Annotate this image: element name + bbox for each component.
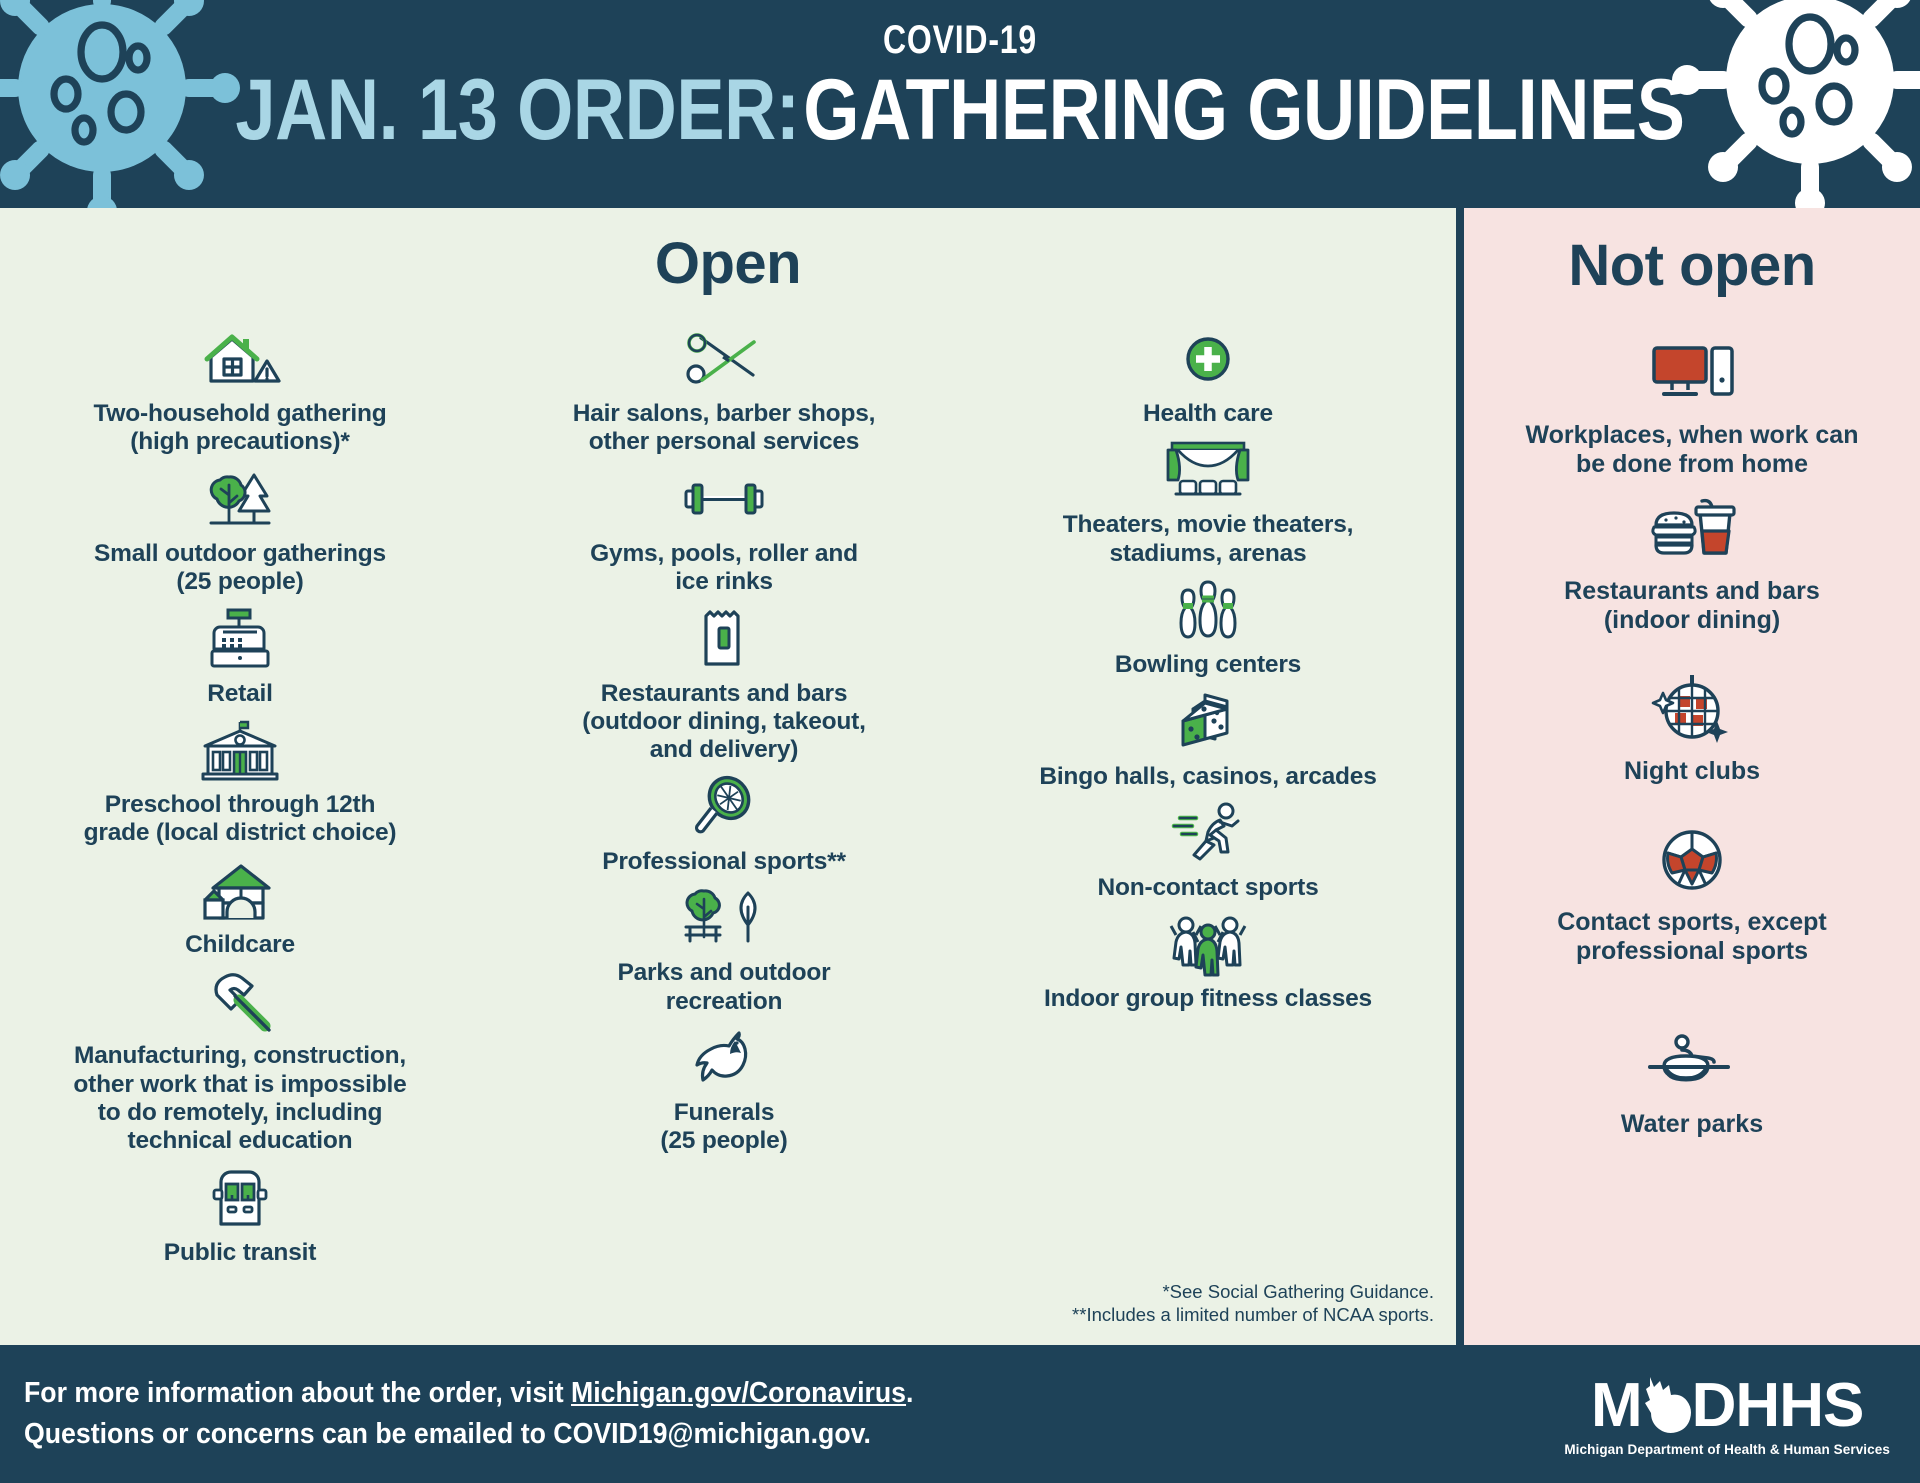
- list-item-label: Public transit: [14, 1239, 466, 1267]
- coronavirus-link[interactable]: Michigan.gov/Coronavirus: [571, 1377, 906, 1409]
- house-icon: [14, 323, 466, 395]
- dove-icon: [494, 1022, 954, 1094]
- takeout-receipt-icon: [494, 603, 954, 675]
- open-heading: Open: [0, 208, 1456, 297]
- dumbbell-icon: [494, 463, 954, 535]
- scissors-icon: [494, 323, 954, 395]
- bus-icon: [14, 1162, 466, 1234]
- list-item: Workplaces, when work can be done from h…: [1464, 333, 1920, 479]
- list-item-label: Manufacturing, construction, other work …: [14, 1042, 466, 1156]
- list-item: Gyms, pools, roller and ice rinks: [494, 463, 954, 597]
- list-item: Preschool through 12th grade (local dist…: [14, 714, 466, 848]
- list-item-label: Bowling centers: [982, 651, 1434, 679]
- list-item-label: Childcare: [14, 931, 466, 959]
- logo-letter-m: M: [1591, 1378, 1642, 1434]
- trees-icon: [14, 463, 466, 535]
- list-item: Restaurants and bars (outdoor dining, ta…: [494, 603, 954, 765]
- open-column-2: Hair salons, barber shops, other persona…: [480, 323, 968, 1273]
- school-building-icon: [14, 714, 466, 786]
- bowling-pins-icon: [982, 574, 1434, 646]
- list-item: Water parks: [1464, 1022, 1920, 1139]
- list-item-label: Workplaces, when work can be done from h…: [1464, 421, 1920, 479]
- park-bench-tree-icon: [494, 882, 954, 954]
- desktop-computer-icon: [1464, 333, 1920, 413]
- theater-stage-icon: [982, 434, 1434, 506]
- logo-wordmark: M DHHS: [1591, 1371, 1863, 1441]
- list-item-label: Funerals (25 people): [494, 1099, 954, 1156]
- covid-eyebrow: COVID-19: [192, 18, 1728, 63]
- list-item-label: Restaurants and bars (indoor dining): [1464, 577, 1920, 635]
- list-item-label: Small outdoor gatherings (25 people): [14, 540, 466, 597]
- soccer-ball-icon: [1464, 820, 1920, 900]
- page-title-highlight: JAN. 13 ORDER:: [235, 62, 799, 158]
- tennis-racket-icon: [494, 771, 954, 843]
- list-item: Parks and outdoor recreation: [494, 882, 954, 1016]
- list-item-label: Night clubs: [1464, 757, 1920, 786]
- open-column-1: Two-household gathering (high precaution…: [0, 323, 480, 1273]
- header-banner: COVID-19 JAN. 13 ORDER: GATHERING GUIDEL…: [0, 0, 1920, 208]
- list-item-label: Parks and outdoor recreation: [494, 959, 954, 1016]
- list-item-label: Restaurants and bars (outdoor dining, ta…: [494, 680, 954, 765]
- mdhhs-logo: M DHHS Michigan Department of Health & H…: [1564, 1371, 1890, 1458]
- list-item: Small outdoor gatherings (25 people): [14, 463, 466, 597]
- list-item: Contact sports, except professional spor…: [1464, 820, 1920, 966]
- list-item: Indoor group fitness classes: [982, 908, 1434, 1013]
- list-item: Restaurants and bars (indoor dining): [1464, 489, 1920, 635]
- burger-drink-icon: [1464, 489, 1920, 569]
- list-item-label: Hair salons, barber shops, other persona…: [494, 400, 954, 457]
- building-blocks-icon: [14, 854, 466, 926]
- list-item-label: Professional sports**: [494, 848, 954, 876]
- page-title-main: GATHERING GUIDELINES: [803, 62, 1684, 158]
- page-title: JAN. 13 ORDER: GATHERING GUIDELINES: [154, 67, 1767, 153]
- list-item-label: Water parks: [1464, 1110, 1920, 1139]
- runner-icon: [982, 797, 1434, 869]
- water-tube-icon: [1464, 1022, 1920, 1102]
- footer-line-2: Questions or concerns can be emailed to …: [24, 1414, 913, 1455]
- list-item: Bowling centers: [982, 574, 1434, 679]
- footer-bar: For more information about the order, vi…: [0, 1345, 1920, 1483]
- logo-subtitle: Michigan Department of Health & Human Se…: [1564, 1442, 1890, 1457]
- list-item-label: Contact sports, except professional spor…: [1464, 908, 1920, 966]
- not-open-panel: Not open Workplaces, when work can be do…: [1464, 208, 1920, 1345]
- list-item: Hair salons, barber shops, other persona…: [494, 323, 954, 457]
- medical-cross-icon: [982, 323, 1434, 395]
- panel-divider: [1456, 208, 1464, 1345]
- hammer-icon: [14, 965, 466, 1037]
- footer-line1-after: .: [906, 1377, 913, 1409]
- list-item: Retail: [14, 603, 466, 708]
- list-item-label: Retail: [14, 680, 466, 708]
- disco-ball-icon: [1464, 669, 1920, 749]
- open-column-3: Health care: [968, 323, 1448, 1273]
- list-item: Two-household gathering (high precaution…: [14, 323, 466, 457]
- open-panel: Open: [0, 208, 1456, 1345]
- list-item-label: Bingo halls, casinos, arcades: [982, 763, 1434, 791]
- list-item: Health care: [982, 323, 1434, 428]
- list-item: Funerals (25 people): [494, 1022, 954, 1156]
- infographic-page: COVID-19 JAN. 13 ORDER: GATHERING GUIDEL…: [0, 0, 1920, 1483]
- list-item: Bingo halls, casinos, arcades: [982, 686, 1434, 791]
- content-area: Open: [0, 208, 1920, 1345]
- logo-letters-dhhs: DHHS: [1692, 1378, 1864, 1434]
- list-item-label: Theaters, movie theaters, stadiums, aren…: [982, 511, 1434, 568]
- list-item-label: Gyms, pools, roller and ice rinks: [494, 540, 954, 597]
- list-item: Childcare: [14, 854, 466, 959]
- footer-line-1: For more information about the order, vi…: [24, 1373, 913, 1414]
- footnotes: *See Social Gathering Guidance. **Includ…: [1072, 1280, 1434, 1327]
- list-item: Theaters, movie theaters, stadiums, aren…: [982, 434, 1434, 568]
- list-item-label: Two-household gathering (high precaution…: [14, 400, 466, 457]
- cash-register-icon: [14, 603, 466, 675]
- not-open-heading: Not open: [1464, 208, 1920, 299]
- footer-contact-text: For more information about the order, vi…: [24, 1373, 913, 1455]
- group-fitness-icon: [982, 908, 1434, 980]
- list-item: Professional sports**: [494, 771, 954, 876]
- dice-icon: [982, 686, 1434, 758]
- list-item: Public transit: [14, 1162, 466, 1267]
- list-item-label: Indoor group fitness classes: [982, 985, 1434, 1013]
- list-item-label: Preschool through 12th grade (local dist…: [14, 791, 466, 848]
- michigan-state-icon: [1638, 1371, 1694, 1441]
- footer-line1-before: For more information about the order, vi…: [24, 1377, 571, 1409]
- list-item-label: Non-contact sports: [982, 874, 1434, 902]
- list-item: Manufacturing, construction, other work …: [14, 965, 466, 1156]
- list-item-label: Health care: [982, 400, 1434, 428]
- list-item: Night clubs: [1464, 669, 1920, 786]
- list-item: Non-contact sports: [982, 797, 1434, 902]
